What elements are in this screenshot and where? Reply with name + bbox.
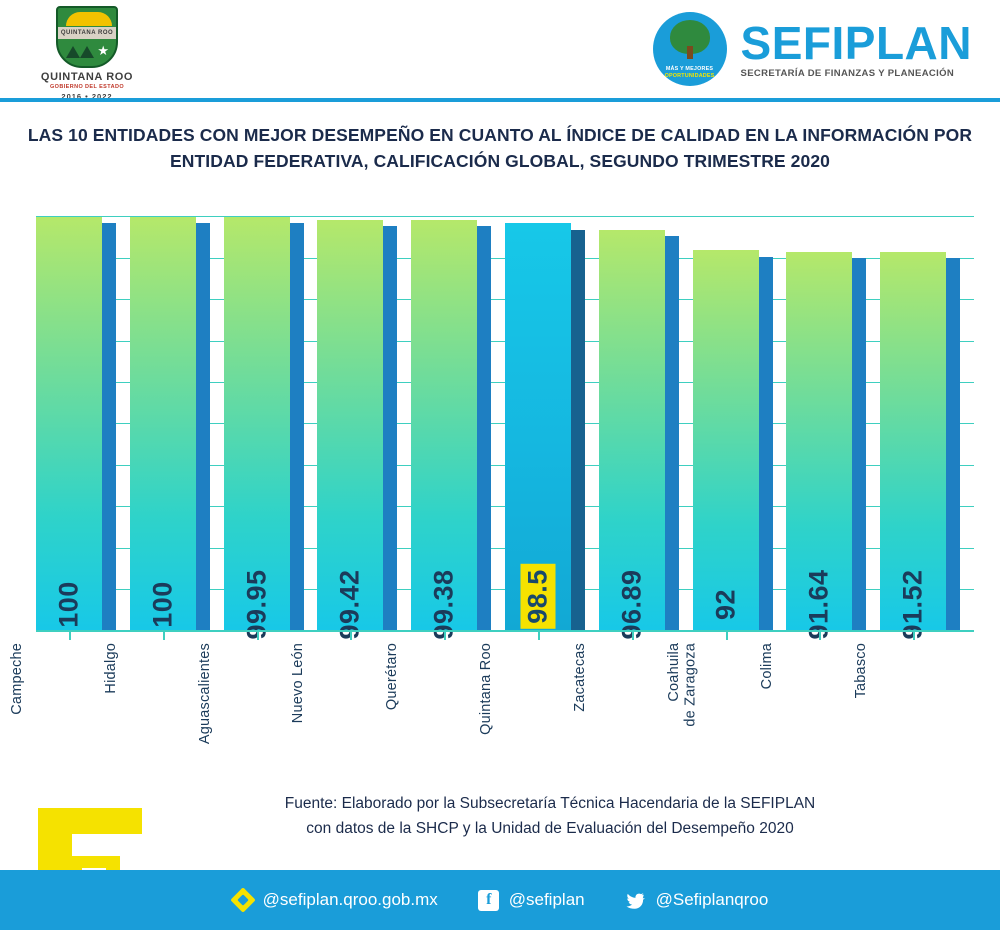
- axis-tick: [163, 632, 165, 640]
- axis-tick: [819, 632, 821, 640]
- tick-slot: [411, 632, 505, 640]
- axis-tick: [69, 632, 71, 640]
- bar-shadow: [290, 223, 304, 631]
- footer-item-twitter[interactable]: @Sefiplanqroo: [625, 890, 769, 910]
- chart-title: LAS 10 ENTIDADES CON MEJOR DESEMPEÑO EN …: [26, 122, 974, 175]
- bar-value-label: 92: [710, 588, 741, 619]
- source-line-1: Fuente: Elaborado por la Subsecretaría T…: [130, 792, 970, 817]
- tick-slot: [693, 632, 787, 640]
- axis-tick: [538, 632, 540, 640]
- bar-group[interactable]: 100: [36, 197, 130, 632]
- axis-tick: [726, 632, 728, 640]
- bar[interactable]: 91.64: [786, 252, 852, 632]
- bar-value-label: 100: [54, 581, 85, 628]
- sefiplan-wordmark: SEFIPLAN SECRETARÍA DE FINANZAS Y PLANEA…: [741, 20, 972, 79]
- bar-shadow: [759, 257, 773, 632]
- bar-shadow: [852, 258, 866, 632]
- bar[interactable]: 100: [36, 217, 102, 631]
- star-icon: ★: [97, 44, 109, 57]
- tree-trunk-icon: [687, 46, 693, 59]
- axis-tick: [632, 632, 634, 640]
- tick-slot: [786, 632, 880, 640]
- bar-shadow: [571, 230, 585, 632]
- bar-group[interactable]: 99.42: [317, 197, 411, 632]
- x-axis-ticks: [36, 632, 974, 640]
- axis-tick: [913, 632, 915, 640]
- tick-slot: [224, 632, 318, 640]
- footer-item-website[interactable]: @sefiplan.qroo.gob.mx: [232, 889, 438, 911]
- crest-band: QUINTANA ROO: [58, 27, 116, 39]
- emblem-caption-line1: MÁS Y MEJORES: [653, 66, 727, 73]
- header-divider: [0, 98, 1000, 102]
- tick-slot: [599, 632, 693, 640]
- source-line-2: con datos de la SHCP y la Unidad de Eval…: [130, 817, 970, 842]
- plot-area: 10010099.9599.4299.3898.596.899291.6491.…: [36, 197, 974, 632]
- crest-triangle-2-icon: [80, 46, 94, 58]
- chart-container: 10010099.9599.4299.3898.596.899291.6491.…: [0, 191, 1000, 751]
- bar[interactable]: 98.5: [505, 223, 571, 631]
- emblem-caption-line2: OPORTUNIDADES: [653, 73, 727, 80]
- bar[interactable]: 92: [693, 250, 759, 631]
- bar[interactable]: 99.38: [411, 220, 477, 632]
- bar-group[interactable]: 92: [693, 197, 787, 632]
- facebook-icon: f: [478, 889, 500, 911]
- footer-item-facebook[interactable]: f @sefiplan: [478, 889, 585, 911]
- bar-group[interactable]: 91.52: [880, 197, 974, 632]
- footer-twitter-label: @Sefiplanqroo: [656, 890, 769, 910]
- tick-slot: [317, 632, 411, 640]
- footer-website-label: @sefiplan.qroo.gob.mx: [263, 890, 438, 910]
- crest-shield-icon: QUINTANA ROO ★: [56, 6, 118, 68]
- bar[interactable]: 100: [130, 217, 196, 631]
- bar-group[interactable]: 91.64: [786, 197, 880, 632]
- bar[interactable]: 96.89: [599, 230, 665, 631]
- crest-sun-icon: [66, 12, 112, 26]
- tick-slot: [880, 632, 974, 640]
- axis-tick: [257, 632, 259, 640]
- tick-slot: [130, 632, 224, 640]
- page-header: QUINTANA ROO ★ QUINTANA ROO GOBIERNO DEL…: [0, 0, 1000, 100]
- tick-slot: [36, 632, 130, 640]
- quintana-roo-crest: QUINTANA ROO ★ QUINTANA ROO GOBIERNO DEL…: [32, 6, 142, 101]
- bar-shadow: [477, 226, 491, 632]
- bar[interactable]: 99.95: [224, 217, 290, 631]
- category-label: Tabasco: [853, 643, 973, 698]
- bar-group[interactable]: 100: [130, 197, 224, 632]
- crest-triangle-icon: [66, 46, 80, 58]
- crest-band-label: QUINTANA ROO: [58, 27, 116, 39]
- tick-slot: [505, 632, 599, 640]
- crest-title: QUINTANA ROO: [32, 71, 142, 83]
- axis-tick: [444, 632, 446, 640]
- bar-value-label: 100: [147, 581, 178, 628]
- crest-subtitle: GOBIERNO DEL ESTADO: [32, 84, 142, 90]
- axis-tick: [350, 632, 352, 640]
- x-axis-labels: CampecheHidalgoAguascalientesNuevo LeónQ…: [36, 643, 974, 763]
- web-diamond-icon: [232, 889, 254, 911]
- bar-shadow: [102, 223, 116, 631]
- bar-series: 10010099.9599.4299.3898.596.899291.6491.…: [36, 197, 974, 632]
- bar[interactable]: 99.42: [317, 220, 383, 632]
- bar-group[interactable]: 96.89: [599, 197, 693, 632]
- bar-shadow: [383, 226, 397, 632]
- bar-group[interactable]: 98.5: [505, 197, 599, 632]
- sefiplan-emblem-icon: MÁS Y MEJORES OPORTUNIDADES: [653, 12, 727, 86]
- sefiplan-logo: MÁS Y MEJORES OPORTUNIDADES SEFIPLAN SEC…: [653, 12, 972, 86]
- bar-shadow: [946, 258, 960, 631]
- footer-facebook-label: @sefiplan: [509, 890, 585, 910]
- page-footer: @sefiplan.qroo.gob.mx f @sefiplan @Sefip…: [0, 870, 1000, 930]
- bar-shadow: [196, 223, 210, 631]
- sefiplan-name: SEFIPLAN: [741, 20, 972, 66]
- label-slot: Tabasco: [880, 643, 974, 763]
- bar-group[interactable]: 99.38: [411, 197, 505, 632]
- bar-group[interactable]: 99.95: [224, 197, 318, 632]
- source-note: Fuente: Elaborado por la Subsecretaría T…: [130, 792, 970, 842]
- twitter-icon: [625, 890, 647, 910]
- bar-value-label: 98.5: [520, 564, 555, 629]
- bar-shadow: [665, 236, 679, 631]
- sefiplan-tagline: SECRETARÍA DE FINANZAS Y PLANEACIÓN: [741, 69, 972, 79]
- emblem-caption: MÁS Y MEJORES OPORTUNIDADES: [653, 66, 727, 80]
- bar[interactable]: 91.52: [880, 252, 946, 631]
